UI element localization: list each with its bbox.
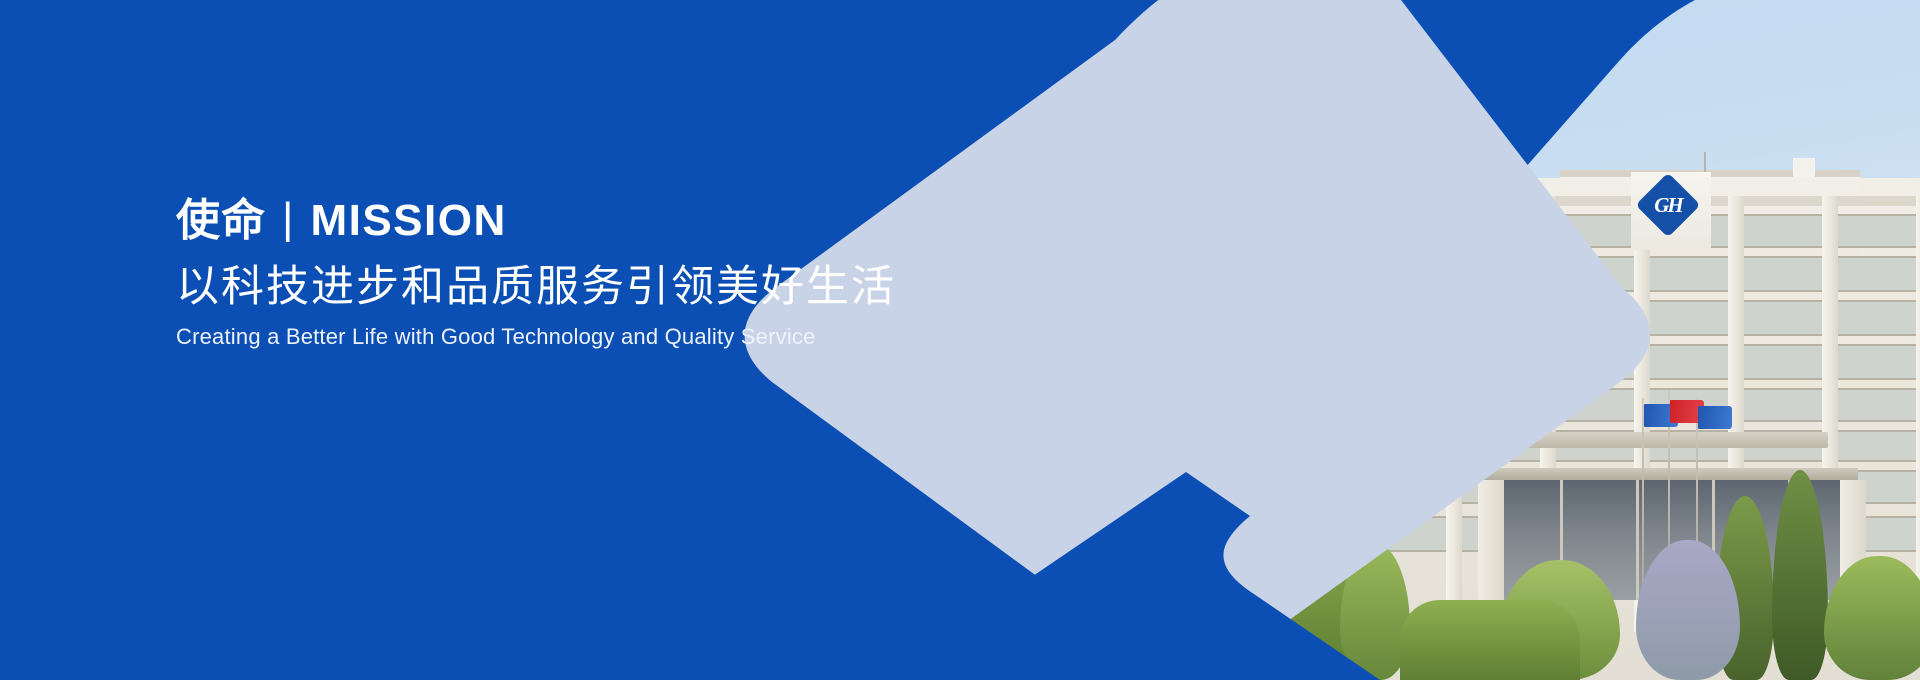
headline-chinese: 使命 <box>176 196 266 245</box>
entrance-canopy-upper <box>1498 432 1828 448</box>
mission-banner: GH 使命|MISSION 以科技进步和品质服务引领美好生活 <box>0 0 1920 680</box>
entrance-column <box>1478 480 1504 606</box>
page-title: 使命|MISSION <box>176 196 936 245</box>
company-logo-monogram: GH <box>1645 182 1691 228</box>
rooftop-antenna <box>1704 152 1706 174</box>
tagline-english: Creating a Better Life with Good Technol… <box>176 324 936 350</box>
headline-divider: | <box>282 194 294 243</box>
mission-copy-block: 使命|MISSION 以科技进步和品质服务引领美好生活 Creating a B… <box>176 196 936 350</box>
tagline-chinese: 以科技进步和品质服务引领美好生活 <box>176 261 936 313</box>
entrance-mullion <box>1636 480 1639 600</box>
company-flag-right <box>1698 406 1732 429</box>
hedge <box>1400 600 1580 680</box>
rooftop-equipment-box <box>1793 158 1815 178</box>
facade-pilaster <box>1916 196 1920 632</box>
headline-english: MISSION <box>310 196 506 245</box>
